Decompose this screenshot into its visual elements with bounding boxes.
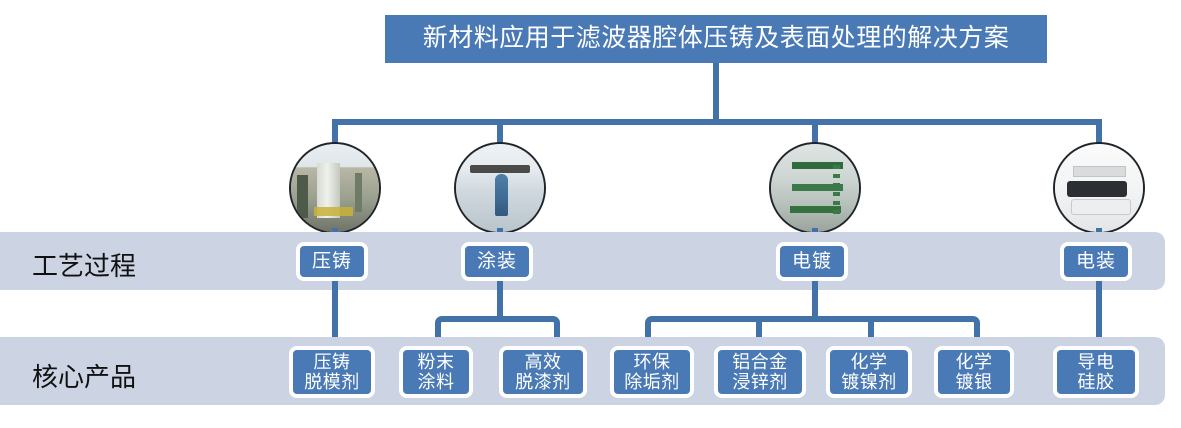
process-node-plating[interactable]: 电镀 <box>776 242 848 281</box>
connector-plating-stem <box>812 281 818 319</box>
product-node-powder-coating[interactable]: 粉末 涂料 <box>399 346 473 398</box>
photo-fill-plating <box>771 144 859 232</box>
photo-fill-diecasting <box>291 144 379 232</box>
photo-fill-assembly <box>1055 144 1143 232</box>
trunk-vertical-line <box>713 63 719 125</box>
product-node-conductive-silicone[interactable]: 导电 硅胶 <box>1053 346 1139 398</box>
product-node-electroless-silver[interactable]: 化学 镀银 <box>934 346 1014 398</box>
connector-coating-stem <box>497 281 503 319</box>
process-node-assembly[interactable]: 电装 <box>1060 242 1132 281</box>
photo-fill-coating <box>456 144 544 232</box>
connector-diecasting-to-products <box>332 281 338 343</box>
process-node-diecasting[interactable]: 压铸 <box>296 242 368 281</box>
product-node-paint-stripper[interactable]: 高效 脱漆剂 <box>499 346 587 398</box>
connector-assembly-to-products <box>1096 281 1102 343</box>
lane-band-process <box>0 232 1165 290</box>
lane-label-product: 核心产品 <box>32 357 136 394</box>
electronic-assembly-robot-photo <box>1053 142 1145 234</box>
process-node-coating[interactable]: 涂装 <box>461 242 533 281</box>
diagram-title: 新材料应用于滤波器腔体压铸及表面处理的解决方案 <box>385 15 1047 63</box>
product-node-electroless-nickel[interactable]: 化学 镀镍剂 <box>826 346 912 398</box>
coating-booth-photo <box>454 142 546 234</box>
trunk-horizontal-bar <box>332 119 1102 125</box>
product-node-descaling-agent[interactable]: 环保 除垢剂 <box>610 346 694 398</box>
product-node-die-casting-release-agent[interactable]: 压铸 脱模剂 <box>289 346 375 398</box>
electroplating-line-photo <box>769 142 861 234</box>
die-casting-workshop-photo <box>289 142 381 234</box>
lane-label-process: 工艺过程 <box>32 246 136 283</box>
product-node-aluminum-zincate[interactable]: 铝合金 浸锌剂 <box>714 346 806 398</box>
solution-architecture-diagram: 新材料应用于滤波器腔体压铸及表面处理的解决方案 工艺过程 压铸 涂装 电镀 电装… <box>0 0 1181 428</box>
